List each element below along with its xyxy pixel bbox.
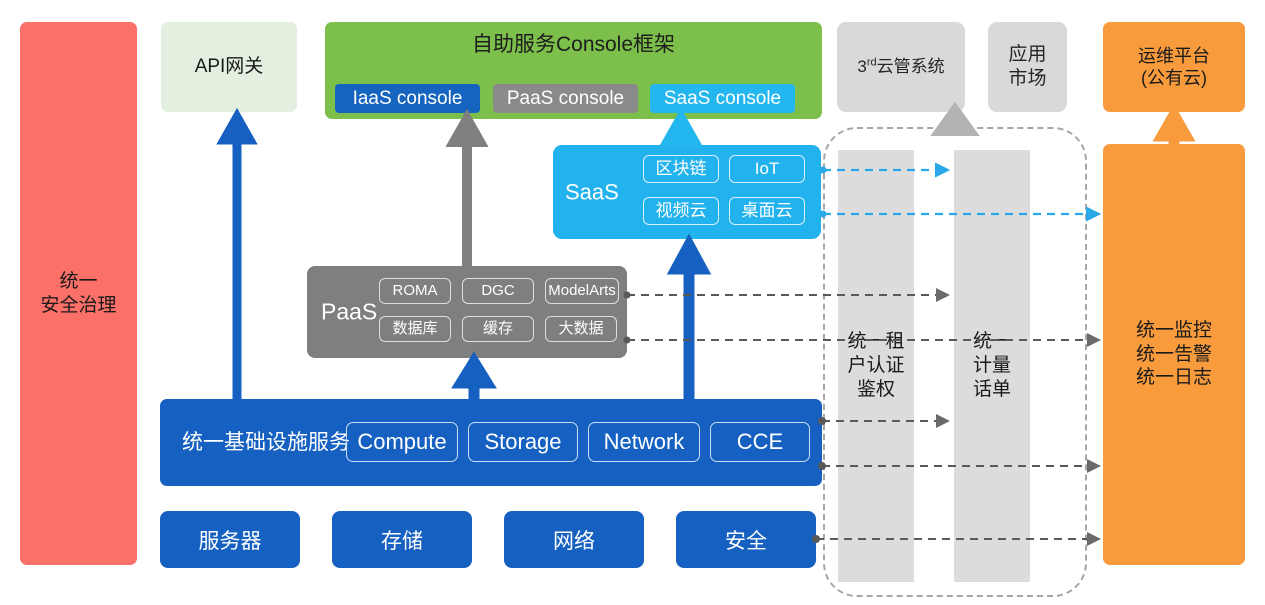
api-gateway-label: API网关 — [195, 55, 264, 79]
unified-tenant-auth-column: 统一租 户认证 鉴权 — [838, 150, 914, 582]
security-governance-line2: 安全治理 — [40, 294, 116, 318]
saas-panel: SaaS 区块链 IoT 视频云 桌面云 — [553, 145, 821, 239]
unified-metering-billing-column: 统一 计量 话单 — [954, 150, 1030, 582]
app-market-line2: 市场 — [1008, 67, 1046, 91]
iaas-console-chip[interactable]: IaaS console — [335, 84, 480, 113]
app-market-box: 应用 市场 — [988, 22, 1067, 112]
infrastructure-label: 统一基础设施服务 — [182, 429, 350, 455]
console-framework-panel: 自助服务Console框架 IaaS console PaaS console … — [325, 22, 822, 119]
hardware-box-security[interactable]: 安全 — [676, 511, 816, 568]
hardware-box-server[interactable]: 服务器 — [160, 511, 300, 568]
infra-chip-network[interactable]: Network — [588, 422, 700, 462]
ops-monitoring-label: 统一监控 — [1136, 319, 1212, 343]
saas-chip-iot[interactable]: IoT — [729, 155, 805, 183]
paas-panel: PaaS ROMA DGC ModelArts 数据库 缓存 大数据 — [307, 266, 627, 358]
infra-chip-storage[interactable]: Storage — [468, 422, 578, 462]
saas-console-chip[interactable]: SaaS console — [650, 84, 795, 113]
third-party-cloud-mgmt-box: 3rd云管系统 — [837, 22, 965, 112]
security-governance-panel: 统一 安全治理 — [20, 22, 137, 565]
paas-label: PaaS — [321, 298, 377, 327]
arrow-paas-to-console — [454, 119, 480, 266]
infra-chip-compute[interactable]: Compute — [346, 422, 458, 462]
api-gateway-box: API网关 — [161, 22, 297, 112]
arrow-ops-body-to-header — [1162, 115, 1186, 144]
architecture-diagram: 统一 安全治理 API网关 自助服务Console框架 IaaS console… — [0, 0, 1265, 605]
unified-infrastructure-panel: 统一基础设施服务 Compute Storage Network CCE — [160, 399, 822, 486]
ops-platform-line1: 运维平台 — [1138, 45, 1210, 68]
ops-platform-body-box: 统一监控 统一告警 统一日志 — [1103, 144, 1245, 565]
paas-console-chip[interactable]: PaaS console — [493, 84, 638, 113]
app-market-line1: 应用 — [1008, 43, 1046, 67]
paas-chip-cache[interactable]: 缓存 — [462, 316, 534, 342]
arrow-infra-to-api-gateway — [224, 117, 250, 399]
arrow-infra-to-saas — [676, 245, 702, 399]
saas-chip-video-cloud[interactable]: 视频云 — [643, 197, 719, 225]
ops-platform-header-box: 运维平台 (公有云) — [1103, 22, 1245, 112]
ops-alarm-label: 统一告警 — [1136, 343, 1212, 367]
console-framework-title: 自助服务Console框架 — [325, 32, 822, 58]
infra-chip-cce[interactable]: CCE — [710, 422, 810, 462]
hardware-box-network[interactable]: 网络 — [504, 511, 644, 568]
saas-chip-desktop-cloud[interactable]: 桌面云 — [729, 197, 805, 225]
paas-chip-dgc[interactable]: DGC — [462, 278, 534, 304]
saas-label: SaaS — [565, 178, 619, 206]
paas-chip-bigdata[interactable]: 大数据 — [545, 316, 617, 342]
meter-line3: 话单 — [973, 378, 1011, 402]
auth-line3: 鉴权 — [847, 378, 904, 402]
auth-line2: 户认证 — [847, 354, 904, 378]
ops-platform-line2: (公有云) — [1138, 67, 1210, 90]
third-party-label: 3rd云管系统 — [857, 56, 944, 77]
hardware-box-storage[interactable]: 存储 — [332, 511, 472, 568]
security-governance-line1: 统一 — [40, 270, 116, 294]
paas-chip-roma[interactable]: ROMA — [379, 278, 451, 304]
paas-chip-database[interactable]: 数据库 — [379, 316, 451, 342]
saas-chip-blockchain[interactable]: 区块链 — [643, 155, 719, 183]
arrow-infra-to-paas — [461, 362, 487, 399]
arrow-saas-to-console — [668, 119, 694, 145]
auth-line1: 统一租 — [847, 330, 904, 354]
meter-line1: 统一 — [973, 330, 1011, 354]
ops-log-label: 统一日志 — [1136, 366, 1212, 390]
paas-chip-modelarts[interactable]: ModelArts — [545, 278, 619, 304]
meter-line2: 计量 — [973, 354, 1011, 378]
